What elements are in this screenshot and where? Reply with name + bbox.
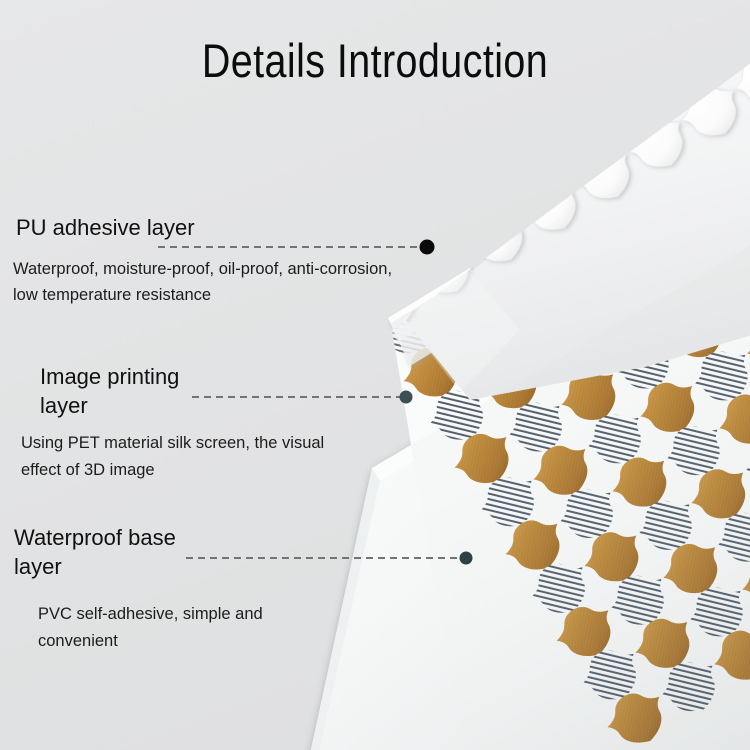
callout-waterproof-base-layer: Waterproof base layer PVC self-adhesive,…: [14, 524, 263, 655]
callout-heading-print: Image printing layer: [40, 363, 324, 420]
callout-heading-pu: PU adhesive layer: [16, 214, 392, 243]
leader-dot-pu: [420, 240, 435, 255]
callout-pu-adhesive-layer: PU adhesive layer Waterproof, moisture-p…: [16, 214, 392, 309]
callout-heading-base: Waterproof base layer: [14, 524, 263, 581]
leader-dot-print: [400, 391, 413, 404]
callout-image-printing-layer: Image printing layer Using PET material …: [40, 363, 324, 484]
callout-body-pu: Waterproof, moisture-proof, oil-proof, a…: [13, 256, 392, 309]
infographic-canvas: Details Introduction PU adhesive layer W…: [0, 0, 750, 750]
callout-body-base: PVC self-adhesive, simple and convenient: [38, 601, 263, 654]
leader-dot-base: [460, 552, 473, 565]
callout-body-print: Using PET material silk screen, the visu…: [21, 430, 324, 483]
